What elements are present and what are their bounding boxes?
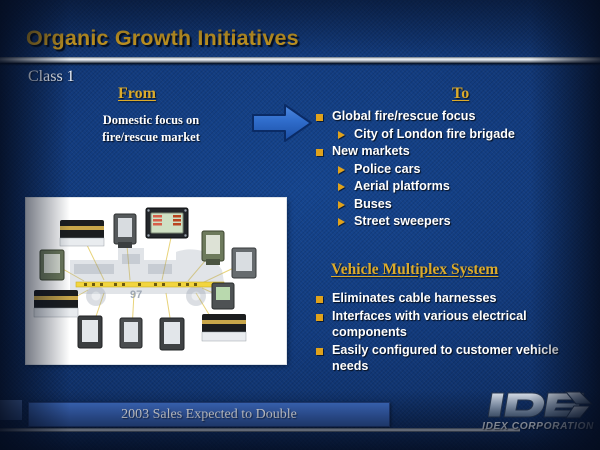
list-item-label: Easily configured to customer vehicle ne… bbox=[332, 342, 588, 375]
logo-accent-chip bbox=[0, 400, 22, 420]
square-bullet-icon bbox=[316, 296, 323, 303]
list-item-label: Global fire/rescue focus bbox=[332, 108, 475, 125]
triangle-bullet-icon bbox=[338, 183, 345, 191]
from-column-heading: From bbox=[118, 85, 156, 103]
list-item-label: New markets bbox=[332, 143, 410, 160]
section-heading: Vehicle Multiplex System bbox=[331, 261, 498, 279]
list-item: Street sweepers bbox=[338, 213, 592, 230]
to-column-heading: To bbox=[452, 85, 469, 103]
idex-logo-mark bbox=[488, 390, 594, 420]
square-bullet-icon bbox=[316, 314, 323, 321]
list-item-label: Aerial platforms bbox=[354, 178, 450, 195]
list-item-label: Eliminates cable harnesses bbox=[332, 290, 497, 307]
list-item: Police cars bbox=[338, 161, 592, 178]
bottom-divider bbox=[0, 428, 520, 432]
title-divider-shadow bbox=[0, 63, 600, 66]
list-item-label: Buses bbox=[354, 196, 392, 213]
class-label: Class 1 bbox=[28, 68, 75, 86]
triangle-bullet-icon bbox=[338, 218, 345, 226]
list-item-label: Street sweepers bbox=[354, 213, 451, 230]
list-item: City of London fire brigade bbox=[338, 126, 592, 143]
list-item-label: City of London fire brigade bbox=[354, 126, 515, 143]
footer-banner: 2003 Sales Expected to Double bbox=[28, 402, 390, 427]
section-bullet-list: Eliminates cable harnesses Interfaces wi… bbox=[316, 290, 588, 376]
triangle-bullet-icon bbox=[338, 131, 345, 139]
triangle-bullet-icon bbox=[338, 201, 345, 209]
right-arrow-icon bbox=[251, 102, 314, 144]
square-bullet-icon bbox=[316, 149, 323, 156]
list-item: Easily configured to customer vehicle ne… bbox=[316, 342, 588, 375]
list-item: Global fire/rescue focus bbox=[316, 108, 592, 125]
footer-banner-label: 2003 Sales Expected to Double bbox=[121, 407, 297, 423]
list-item: Aerial platforms bbox=[338, 178, 592, 195]
list-item-label: Police cars bbox=[354, 161, 421, 178]
list-item-label: Interfaces with various electrical compo… bbox=[332, 308, 588, 341]
from-column-text: Domestic focus on fire/rescue market bbox=[76, 112, 226, 146]
square-bullet-icon bbox=[316, 348, 323, 355]
list-item: Interfaces with various electrical compo… bbox=[316, 308, 588, 341]
list-item: Eliminates cable harnesses bbox=[316, 290, 588, 307]
page-title: Organic Growth Initiatives bbox=[26, 26, 299, 51]
idex-logo: IDEX CORPORATION bbox=[482, 390, 594, 432]
list-item: New markets bbox=[316, 143, 592, 160]
list-item: Buses bbox=[338, 196, 592, 213]
svg-text:97: 97 bbox=[130, 289, 142, 301]
triangle-bullet-icon bbox=[338, 166, 345, 174]
product-diagram-image: 97 bbox=[26, 198, 286, 364]
to-column-bullet-list: Global fire/rescue focus City of London … bbox=[316, 108, 592, 231]
square-bullet-icon bbox=[316, 114, 323, 121]
presentation-slide: Organic Growth Initiatives Class 1 From … bbox=[0, 0, 600, 450]
idex-wordmark: IDEX CORPORATION bbox=[482, 421, 594, 432]
